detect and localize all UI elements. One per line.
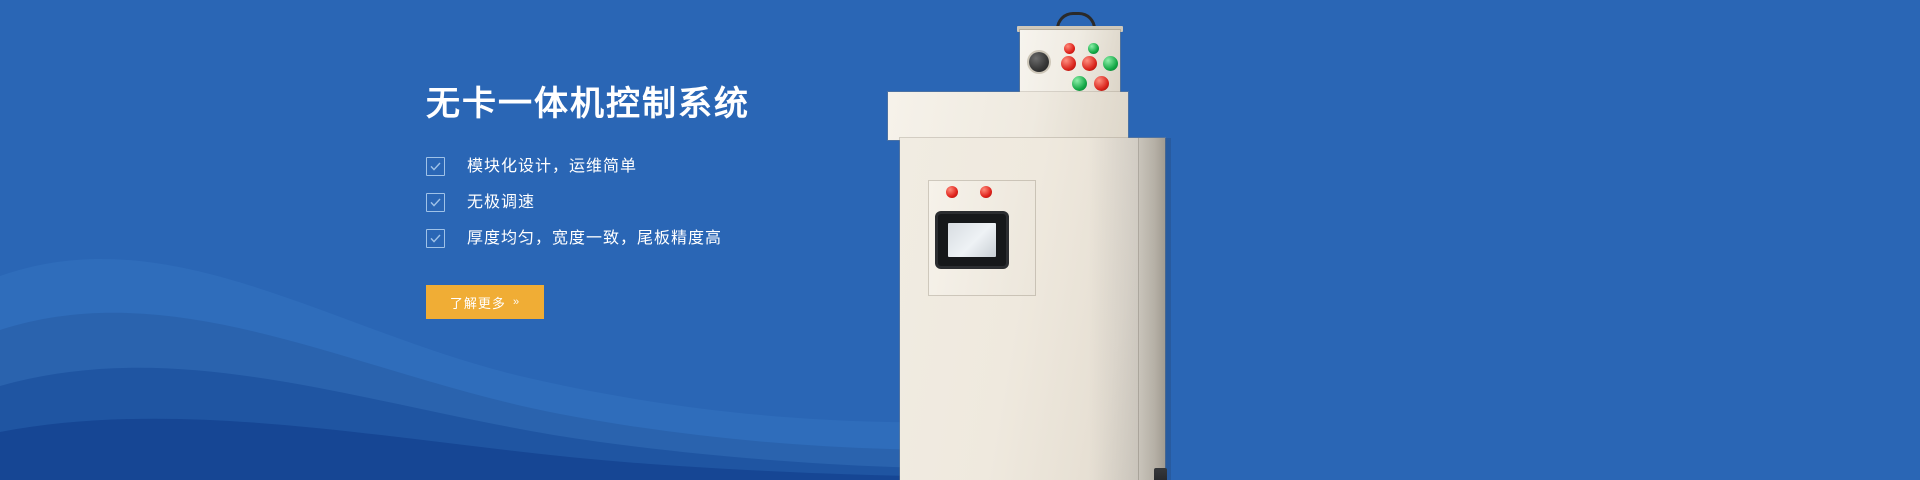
door-lamp-red-2 [980, 186, 992, 198]
door-side-edge [1139, 138, 1165, 480]
push-button-green-1[interactable] [1103, 56, 1118, 71]
indicator-lamp-red-1 [1064, 43, 1075, 54]
hero-banner: 无卡一体机控制系统 模块化设计，运维简单 无极调速 [0, 0, 1920, 480]
door-lamp-red-1 [946, 186, 958, 198]
cabinet-body [900, 138, 1165, 480]
push-button-red-1[interactable] [1061, 56, 1076, 71]
top-control-panel [1020, 30, 1120, 94]
push-button-red-3[interactable] [1094, 76, 1109, 91]
cabinet-hood [888, 92, 1128, 140]
touch-screen-display[interactable] [938, 214, 1006, 266]
push-button-green-2[interactable] [1072, 76, 1087, 91]
check-square-icon [426, 193, 445, 212]
feature-label: 厚度均匀，宽度一致，尾板精度高 [467, 231, 722, 247]
learn-more-button[interactable]: 了解更多 » [426, 285, 544, 319]
control-cabinet-photo [860, 0, 1380, 480]
check-square-icon [426, 229, 445, 248]
door-lamp-row [946, 186, 1006, 200]
door-handle[interactable] [1154, 468, 1167, 480]
screen-surface [948, 223, 996, 257]
chevron-right-icon: » [513, 296, 520, 308]
feature-label: 模块化设计，运维简单 [467, 159, 637, 175]
indicator-lamp-green-1 [1088, 43, 1099, 54]
selector-knob[interactable] [1029, 52, 1049, 72]
push-button-red-2[interactable] [1082, 56, 1097, 71]
check-square-icon [426, 157, 445, 176]
feature-label: 无极调速 [467, 195, 535, 211]
learn-more-label: 了解更多 [450, 293, 506, 312]
